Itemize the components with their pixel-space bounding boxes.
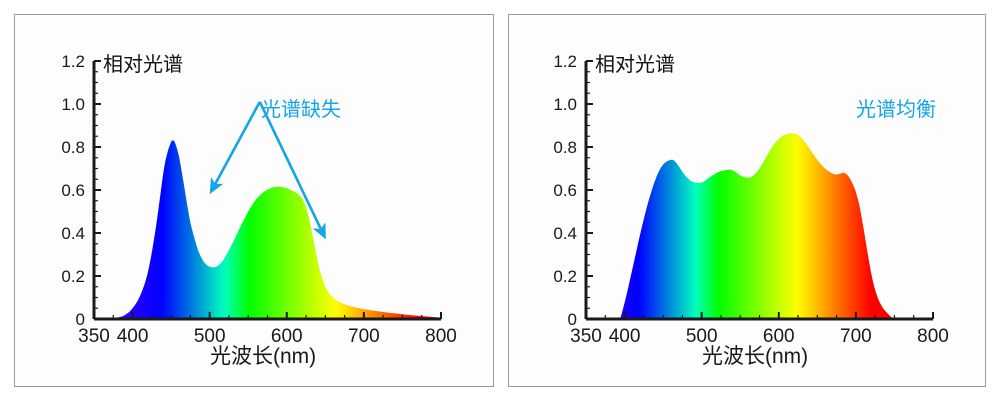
y-tick-label: 0.4 (61, 224, 85, 243)
right-series-label: 相对光谱 (595, 48, 675, 77)
x-tick-label: 350 (570, 326, 602, 347)
figure-stage: 00.20.40.60.81.01.2350400500600700800 相对… (0, 0, 1000, 401)
y-tick-label: 1.2 (61, 52, 85, 71)
y-tick-label: 0.6 (61, 181, 85, 200)
left-series-label: 相对光谱 (103, 48, 183, 77)
y-tick-label: 0.2 (61, 267, 85, 286)
x-tick-label: 700 (348, 326, 380, 347)
y-tick-label: 1.0 (553, 95, 577, 114)
panel-right-spectrum: 00.20.40.60.81.01.2350400500600700800 相对… (508, 14, 986, 387)
y-tick-label: 1.0 (61, 95, 85, 114)
y-tick-label: 0.8 (553, 138, 577, 157)
left-x-axis-title: 光波长(nm) (210, 340, 316, 370)
x-tick-label: 400 (117, 326, 149, 347)
annotation-arrow (212, 102, 260, 190)
left-spectrum-plot: 00.20.40.60.81.01.2350400500600700800 (15, 15, 493, 386)
y-tick-label: 0.4 (553, 224, 577, 243)
y-tick-label: 1.2 (553, 52, 577, 71)
right-x-axis-title: 光波长(nm) (702, 340, 808, 370)
panel-left-spectrum: 00.20.40.60.81.01.2350400500600700800 相对… (14, 14, 494, 387)
right-spectrum-plot: 00.20.40.60.81.01.2350400500600700800 (509, 15, 985, 386)
x-tick-label: 800 (425, 326, 457, 347)
x-tick-label: 800 (917, 326, 949, 347)
y-tick-label: 0.6 (553, 181, 577, 200)
left-annotation-label: 光谱缺失 (261, 93, 341, 122)
y-tick-label: 0.2 (553, 267, 577, 286)
x-tick-label: 400 (609, 326, 641, 347)
x-tick-label: 700 (840, 326, 872, 347)
right-annotation-label: 光谱均衡 (856, 93, 936, 122)
x-tick-label: 350 (78, 326, 110, 347)
y-tick-label: 0.8 (61, 138, 85, 157)
